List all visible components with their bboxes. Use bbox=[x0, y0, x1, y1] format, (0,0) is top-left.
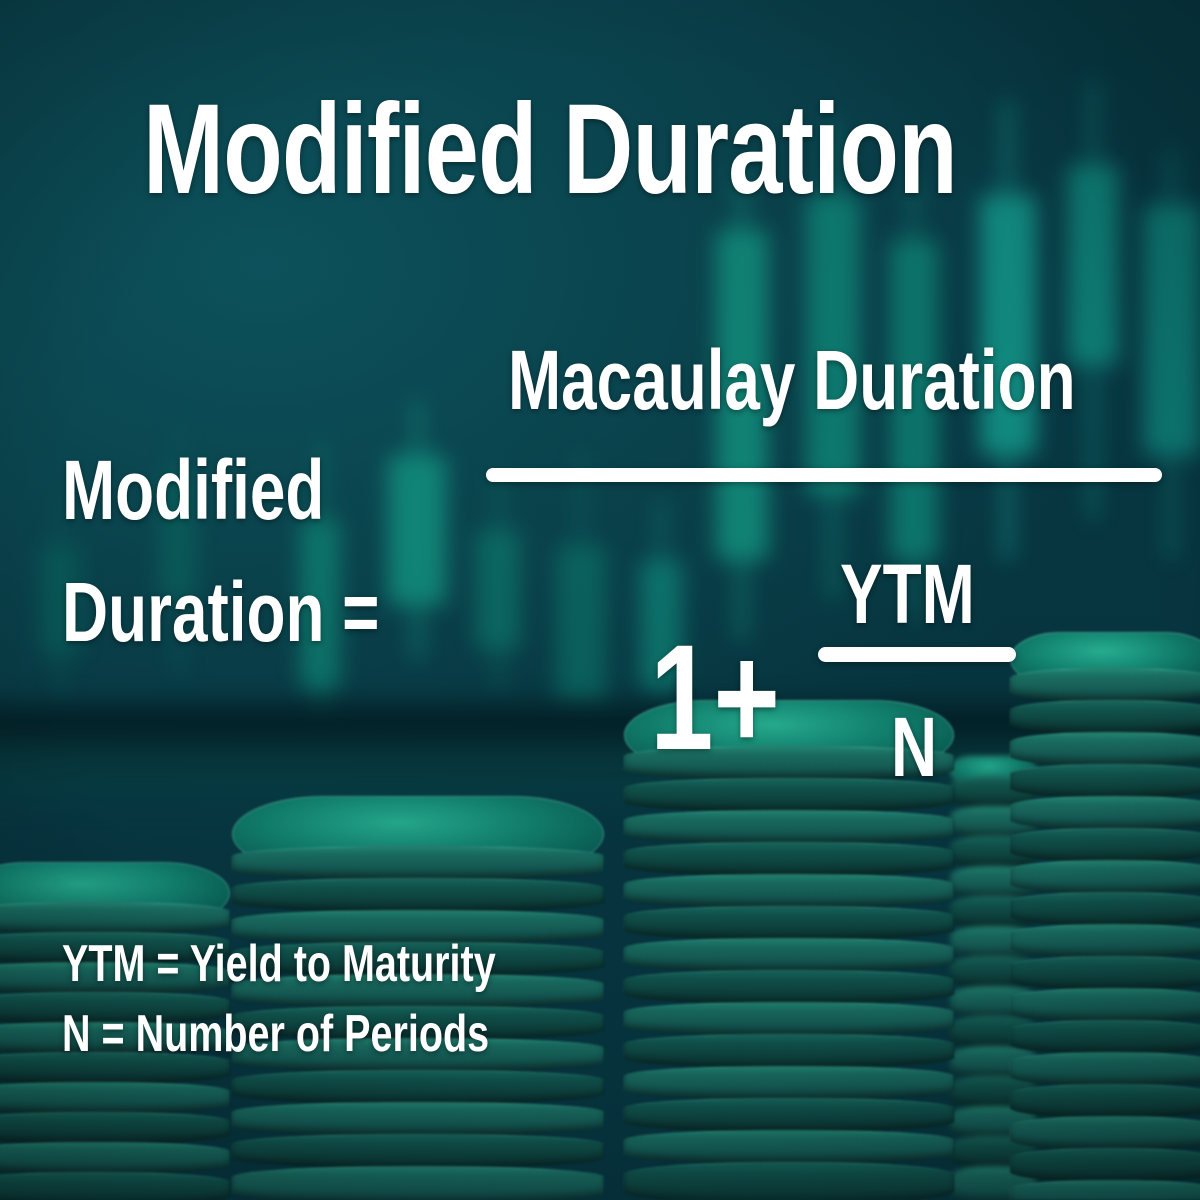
legend-item-ytm: YTM = Yield to Maturity bbox=[62, 938, 496, 990]
legend-item-n: N = Number of Periods bbox=[62, 1008, 489, 1060]
coin-stack-right bbox=[1010, 632, 1200, 1200]
main-fraction-bar bbox=[486, 468, 1162, 482]
formula-left-label-line1: Modified bbox=[62, 448, 324, 532]
coin-stack-left bbox=[232, 796, 604, 1200]
formula-left-label-line2: Duration = bbox=[62, 570, 379, 654]
formula-numerator: Macaulay Duration bbox=[508, 338, 1076, 422]
formula-inner-numerator-ytm: YTM bbox=[840, 552, 975, 636]
formula-denominator-leading-term: 1+ bbox=[650, 622, 780, 772]
formula-inner-denominator-n: N bbox=[891, 705, 937, 789]
page-title: Modified Duration bbox=[143, 86, 957, 214]
inner-fraction-bar bbox=[818, 647, 1016, 662]
infographic-canvas: Modified Duration Modified Duration = Ma… bbox=[0, 0, 1200, 1200]
